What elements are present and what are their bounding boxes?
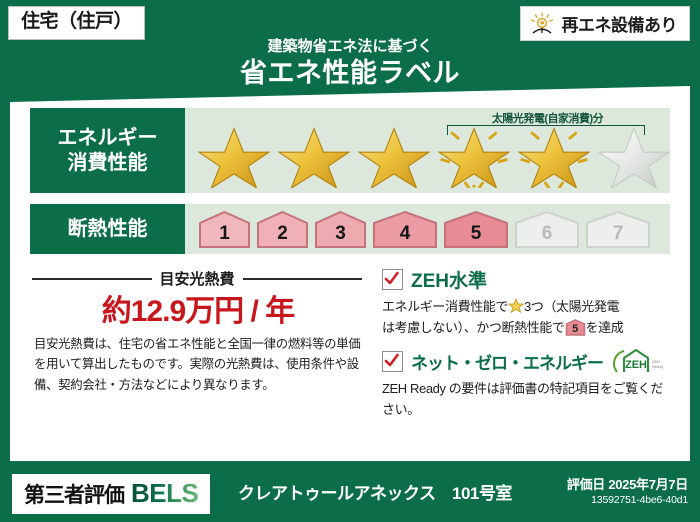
bels-ja-label: 第三者評価 xyxy=(24,479,124,509)
star-filled-solar-5 xyxy=(515,122,593,188)
zeh-standard-row: ZEH水準 xyxy=(382,266,674,293)
label-subtitle: 建築物省エネ法に基づく xyxy=(0,38,700,56)
inline-star-icon xyxy=(508,298,524,314)
sun-solar-icon xyxy=(529,12,555,36)
check-icon xyxy=(384,353,399,368)
building-name: クレアトゥールアネックス 101号室 xyxy=(238,479,512,504)
insulation-level-5: 5 xyxy=(442,210,510,248)
insulation-level-3: 3 xyxy=(313,210,368,248)
energy-performance-label: エネルギー 消費性能 xyxy=(30,108,185,193)
zeh-net-zero-checkbox[interactable] xyxy=(382,351,403,372)
renewable-badge-label: 再エネ設備あり xyxy=(562,11,678,36)
zeh-section: ZEH水準 エネルギー消費性能で3つ（太陽光発電 は考慮しない）、かつ断熱性能で… xyxy=(382,266,674,420)
rule-right xyxy=(243,278,363,280)
bels-logo: 第三者評価 BELS xyxy=(12,474,210,514)
label-body-card: エネルギー 消費性能 太陽光発電(自家消費)分 xyxy=(10,86,690,461)
zeh-net-zero-row: ネット・ゼロ・エネルギー ZEH ZEH Ready xyxy=(382,347,674,375)
insulation-level-7: 7 xyxy=(584,210,652,248)
zeh-standard-desc: エネルギー消費性能で3つ（太陽光発電 は考慮しない）、かつ断熱性能で5を達成 xyxy=(382,296,674,338)
insulation-level-1: 1 xyxy=(197,210,252,248)
check-icon xyxy=(384,271,399,286)
inline-level-badge-icon: 5 xyxy=(565,319,586,336)
evaluation-date: 評価日 2025年7月7日 xyxy=(567,474,688,493)
evaluation-id: 13592751-4be6-40d1 xyxy=(567,494,688,506)
zeh-standard-title: ZEH水準 xyxy=(411,266,487,293)
footer-bar: 第三者評価 BELS クレアトゥールアネックス 101号室 評価日 2025年7… xyxy=(0,466,700,522)
renewable-energy-badge: 再エネ設備あり xyxy=(520,6,691,41)
insulation-level-6: 6 xyxy=(513,210,581,248)
building-type-badge: 住宅（住戸） xyxy=(8,6,145,40)
rule-left xyxy=(32,278,152,280)
utility-cost-note: 目安光熱費は、住宅の省エネ性能と全国一律の燃料等の単価を用いて算出したものです。… xyxy=(34,334,364,395)
star-filled-2 xyxy=(275,122,353,188)
star-filled-solar-4 xyxy=(435,122,513,188)
zeh-standard-checkbox[interactable] xyxy=(382,269,403,290)
zeh-net-zero-desc: ZEH Ready の要件は評価書の特記項目をご覧ください。 xyxy=(382,378,674,420)
star-empty-6 xyxy=(595,122,673,188)
label-title: 省エネ性能ラベル xyxy=(0,57,700,91)
zeh-house-logo-icon: ZEH ZEH Ready xyxy=(611,347,663,375)
insulation-level-2: 2 xyxy=(255,210,310,248)
svg-text:ZEH: ZEH xyxy=(625,359,647,371)
star-filled-3 xyxy=(355,122,433,188)
insulation-level-4: 4 xyxy=(371,210,439,248)
svg-text:Ready: Ready xyxy=(652,364,663,369)
energy-performance-row: エネルギー 消費性能 太陽光発電(自家消費)分 xyxy=(30,108,670,193)
insulation-level-scale: 1 2 3 xyxy=(185,210,652,248)
insulation-performance-row: 断熱性能 1 2 xyxy=(30,204,670,254)
insulation-performance-label: 断熱性能 xyxy=(30,204,185,254)
label-title-group: 建築物省エネ法に基づく 省エネ性能ラベル xyxy=(0,38,700,91)
star-filled-1 xyxy=(195,122,273,188)
bels-en-label: BELS xyxy=(131,478,198,509)
zeh-net-zero-title: ネット・ゼロ・エネルギー xyxy=(411,349,603,374)
energy-label-card: 住宅（住戸） 再エネ設備あり 建築物省エネ法に基づく 省エネ性能ラベル エネルギ xyxy=(0,0,700,522)
star-rating xyxy=(185,122,673,188)
utility-cost-value: 約12.9万円 / 年 xyxy=(32,286,364,330)
evaluation-info: 評価日 2025年7月7日 13592751-4be6-40d1 xyxy=(567,474,688,506)
